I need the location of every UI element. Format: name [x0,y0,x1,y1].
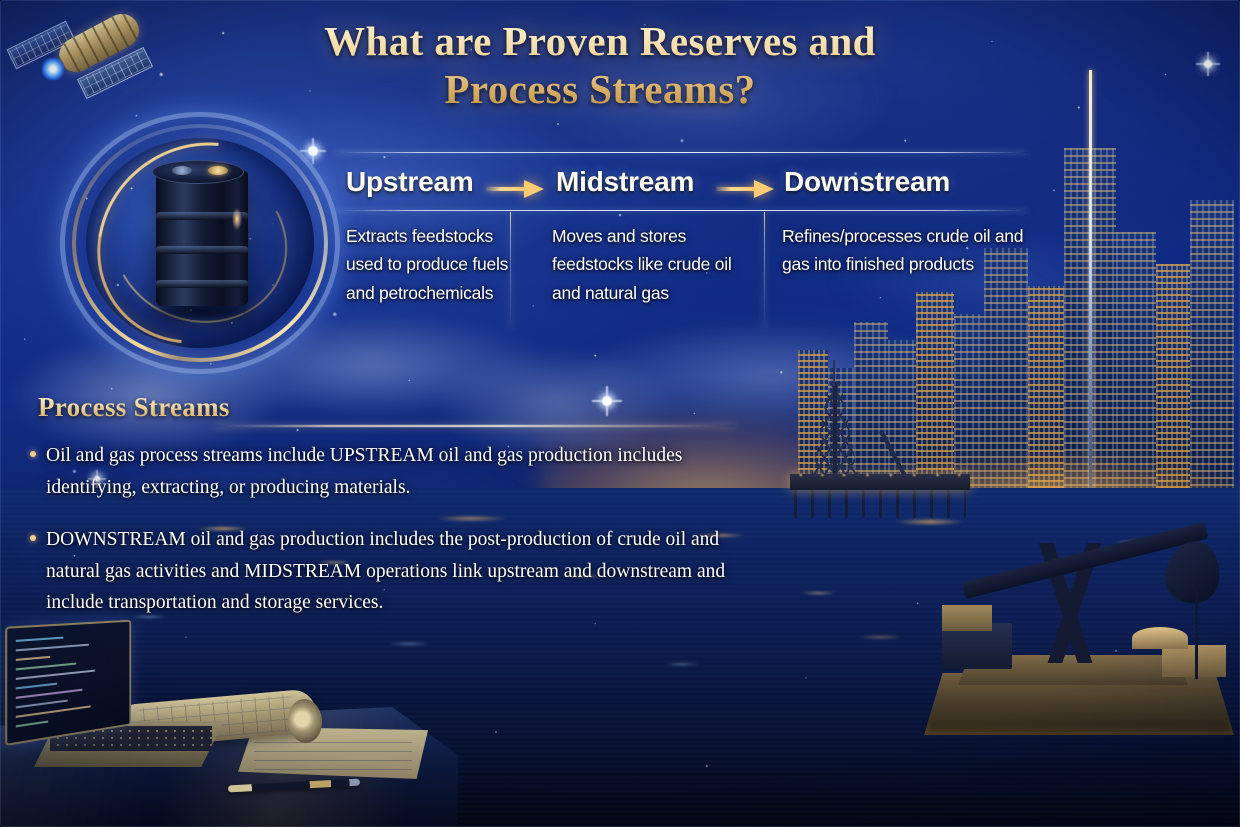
flow-body-midstream: Moves and stores feedstocks like crude o… [552,222,738,307]
arrow-head [524,180,544,198]
flow-body-downstream: Refines/processes crude oil and gas into… [782,222,1040,279]
process-streams-underline [215,425,735,427]
list-item: DOWNSTREAM oil and gas production includ… [30,524,730,619]
flow-body-upstream: Extracts feedstocks used to produce fuel… [346,222,514,307]
content-layer: What are Proven Reserves and Process Str… [0,0,1240,827]
flow-heading-upstream[interactable]: Upstream [346,166,474,198]
page-title: What are Proven Reserves and Process Str… [220,18,980,113]
flow-heading-midstream[interactable]: Midstream [556,166,694,198]
infographic-canvas: What are Proven Reserves and Process Str… [0,0,1240,827]
flow-heading-downstream[interactable]: Downstream [784,166,950,198]
arrow-head [754,180,774,198]
value-chain-flow-panel: Upstream Midstream Downstream Extracts f… [334,152,1028,330]
process-streams-heading: Process Streams [38,392,230,423]
list-item: Oil and gas process streams include UPST… [30,440,730,503]
flow-heading-row: Upstream Midstream Downstream [334,158,1028,206]
title-line-1: What are Proven Reserves and [220,18,980,66]
process-streams-bullet-list: Oil and gas process streams include UPST… [30,440,730,640]
flow-column-divider-2 [764,212,765,330]
title-line-2: Process Streams? [220,66,980,114]
flow-divider-top [334,152,1028,153]
flow-divider-middle [334,210,1028,211]
flow-arrow-icon-2 [716,180,778,198]
flow-arrow-icon-1 [486,180,548,198]
